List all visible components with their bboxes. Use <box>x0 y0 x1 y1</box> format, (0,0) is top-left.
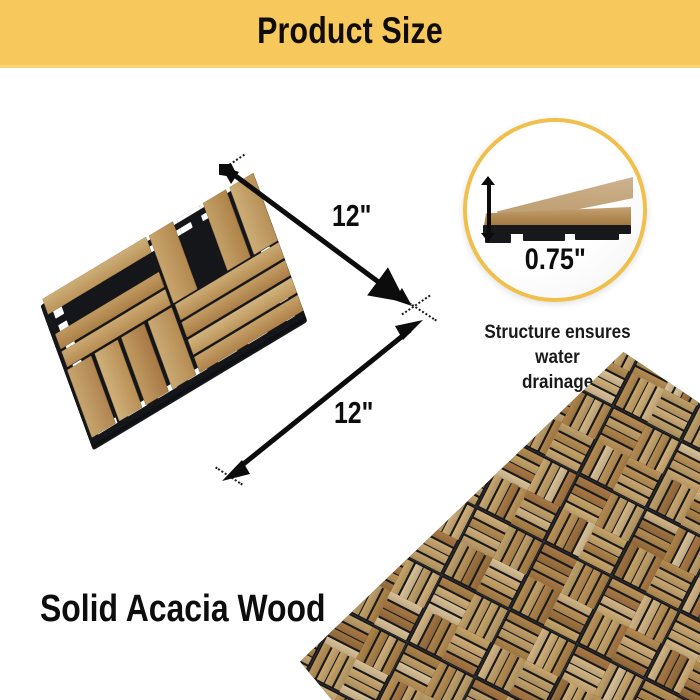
deck-plank <box>425 491 448 527</box>
deck-plank <box>681 366 700 402</box>
deck-plank <box>341 514 377 537</box>
deck-plank <box>331 529 354 565</box>
tile-figure: 12" 12" <box>14 150 434 495</box>
deck-plank <box>300 695 329 700</box>
header-banner-underline <box>0 65 700 68</box>
deck-tile-quadrant <box>460 424 508 472</box>
deck-plank <box>367 551 403 574</box>
dimension-arrow-depth <box>214 318 429 483</box>
deck-tile-quadrant <box>323 525 371 573</box>
deck-tile-quadrant <box>341 489 389 537</box>
deck-tile <box>300 641 305 700</box>
deck-plank <box>443 481 479 504</box>
deck-plank <box>345 506 381 529</box>
vertical-double-arrow-icon <box>481 176 495 242</box>
deck-plank <box>377 507 400 543</box>
deck-plank <box>530 400 566 423</box>
dimension-label-depth: 12" <box>334 395 373 431</box>
deck-plank <box>513 406 536 442</box>
deck-plank <box>394 516 417 552</box>
deck-tile-quadrant <box>300 540 323 588</box>
deck-tile-quadrant <box>478 388 526 436</box>
deck-plank <box>440 407 476 430</box>
deck-plank <box>300 673 303 700</box>
deck-tile-quadrant <box>300 508 339 556</box>
deck-plank <box>319 557 355 580</box>
deck-plank <box>690 370 700 406</box>
deck-plank <box>300 525 331 548</box>
deck-plank <box>323 525 346 561</box>
dimension-label-width: 12" <box>332 198 371 234</box>
deck-tile-quadrant <box>377 507 425 555</box>
deck-plank <box>300 549 315 585</box>
deck-plank <box>315 565 351 588</box>
deck-plank <box>456 456 492 479</box>
deck-plank <box>452 464 488 487</box>
deck-plank <box>447 473 483 496</box>
deck-plank <box>348 538 371 574</box>
deck-tile-quadrant <box>300 490 304 538</box>
deck-plank <box>363 560 399 583</box>
deck-plank <box>393 500 429 523</box>
deck-plank <box>437 452 460 488</box>
material-headline: Solid Acacia Wood <box>40 588 326 631</box>
deck-plank <box>482 405 518 428</box>
deck-plank <box>300 553 323 589</box>
deck-plank <box>304 508 340 531</box>
thickness-label: 0.75" <box>463 243 647 277</box>
deck-plank <box>436 416 472 439</box>
deck-plank <box>300 503 304 539</box>
deck-plank <box>468 428 491 464</box>
deck-plank <box>300 545 306 581</box>
thickness-detail-callout: 0.75" <box>463 118 647 302</box>
deck-plank <box>385 511 408 547</box>
deck-plank <box>350 497 386 520</box>
deck-plank <box>371 543 407 566</box>
deck-plank <box>300 534 326 557</box>
deck-tile-quadrant <box>428 407 476 455</box>
deck-plank <box>673 362 696 398</box>
page-title: Product Size <box>63 0 637 62</box>
deck-plank <box>486 396 522 419</box>
deck-plank <box>340 533 363 569</box>
deck-plank <box>477 432 500 468</box>
deck-plank <box>300 633 316 656</box>
deck-tile-quadrant <box>682 352 700 370</box>
deck-plank <box>397 492 433 515</box>
product-size-infographic: Product Size <box>0 0 700 700</box>
deck-plank <box>432 424 468 447</box>
deck-plank <box>682 352 700 370</box>
deck-plank <box>686 352 700 362</box>
deck-plank <box>460 424 483 460</box>
deck-plank <box>478 413 514 436</box>
deck-plank <box>676 352 699 354</box>
deck-tile-quadrant <box>300 660 302 700</box>
dimension-arrow-width <box>219 164 414 314</box>
deck-plank <box>691 352 700 354</box>
deck-plank <box>300 517 335 540</box>
